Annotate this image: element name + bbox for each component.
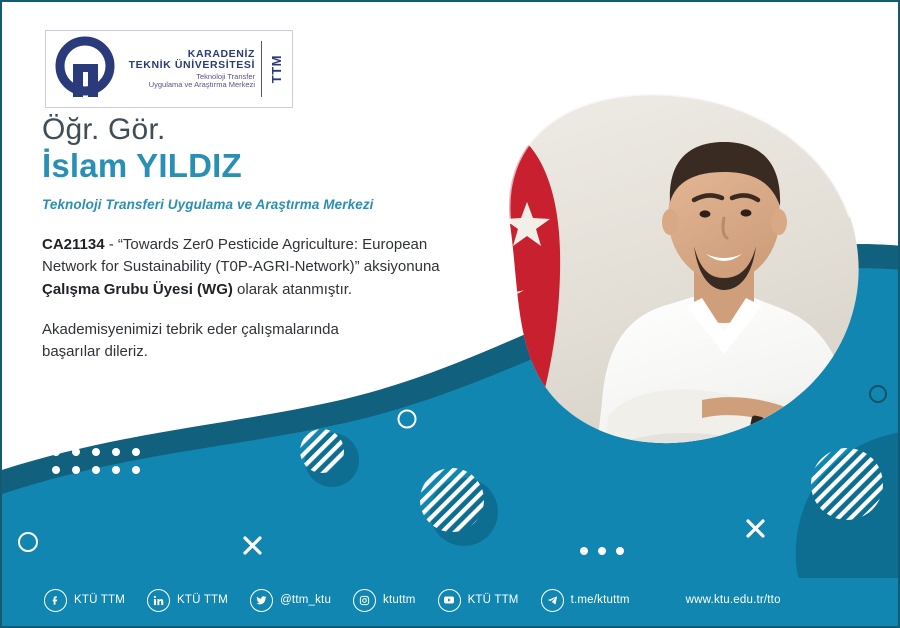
logo-divider [261, 41, 262, 97]
social-label-telegram: t.me/ktuttm [571, 594, 630, 606]
dot-row-decor [580, 547, 624, 555]
social-link-twitter[interactable]: @ttm_ktu [250, 589, 331, 612]
poster-canvas: KARADENİZ TEKNİK ÜNİVERSİTESİ Teknoloji … [0, 0, 900, 628]
telegram-icon [541, 589, 564, 612]
social-link-telegram[interactable]: t.me/ktuttm [541, 589, 630, 612]
person-name: İslam YILDIZ [42, 148, 462, 184]
ktu-circular-logo [52, 36, 124, 102]
congratulation-text: Akademisyenimizi tebrik eder çalışmaları… [42, 319, 372, 363]
instagram-icon [353, 589, 376, 612]
youtube-icon [438, 589, 461, 612]
action-code: CA21134 [42, 236, 105, 253]
facebook-icon [44, 589, 67, 612]
social-link-linkedin[interactable]: KTÜ TTM [147, 589, 228, 612]
role-label: Çalışma Grubu Üyesi (WG) [42, 281, 233, 298]
social-link-instagram[interactable]: ktuttm [353, 589, 416, 612]
body-tail: olarak atanmıştır. [233, 281, 352, 298]
logo-text-block: KARADENİZ TEKNİK ÜNİVERSİTESİ Teknoloji … [124, 49, 257, 89]
title-prefix: Öğr. Gör. [42, 114, 462, 146]
linkedin-icon [147, 589, 170, 612]
social-label-youtube: KTÜ TTM [468, 594, 519, 606]
logo-line-2: TEKNİK ÜNİVERSİTESİ [129, 60, 255, 71]
department-label: Teknoloji Transferi Uygulama ve Araştırm… [42, 197, 462, 212]
social-link-facebook[interactable]: KTÜ TTM [44, 589, 125, 612]
social-footer: KTÜ TTM KTÜ TTM @ttm_ktu ktuttm KTÜ TTM [2, 574, 900, 626]
social-label-facebook: KTÜ TTM [74, 594, 125, 606]
social-link-youtube[interactable]: KTÜ TTM [438, 589, 519, 612]
social-label-twitter: @ttm_ktu [280, 594, 331, 606]
logo-line-4: Uygulama ve Araştırma Merkezi [149, 81, 255, 89]
social-label-instagram: ktuttm [383, 594, 416, 606]
twitter-icon [250, 589, 273, 612]
ktu-ttm-logo: KARADENİZ TEKNİK ÜNİVERSİTESİ Teknoloji … [45, 30, 293, 108]
body-separator: - [105, 236, 118, 253]
announcement-body: CA21134 - “Towards Zer0 Pesticide Agricu… [42, 234, 442, 302]
website-url[interactable]: www.ktu.edu.tr/tto [686, 594, 781, 606]
social-label-linkedin: KTÜ TTM [177, 594, 228, 606]
announcement-text-block: Öğr. Gör. İslam YILDIZ Teknoloji Transfe… [42, 114, 462, 363]
logo-abbrev: TTM [269, 55, 284, 83]
